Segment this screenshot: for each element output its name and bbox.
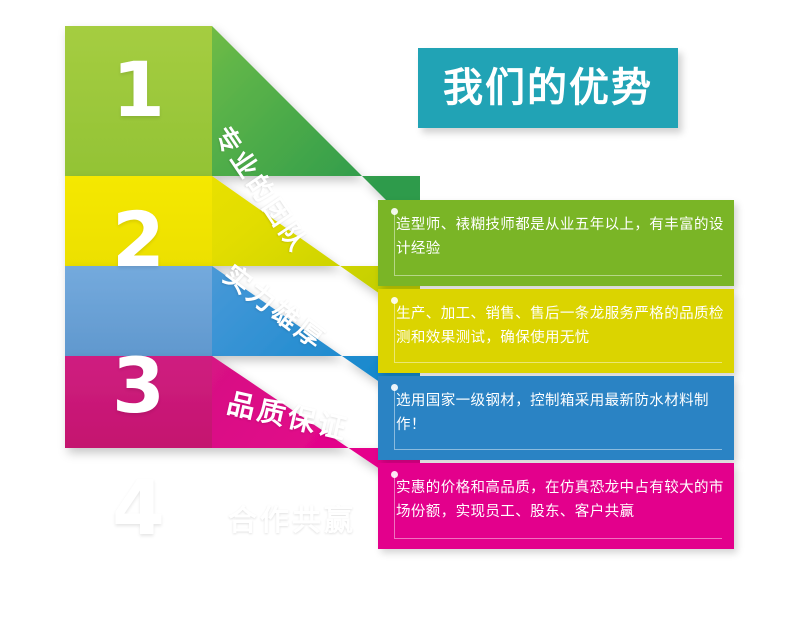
panel-2-text: 生产、加工、销售、售后一条龙服务严格的品质检测和效果测试，确保使用无忧	[396, 303, 728, 351]
description-panel-2[interactable]: 生产、加工、销售、售后一条龙服务严格的品质检测和效果测试，确保使用无忧	[378, 289, 734, 373]
description-panel-4[interactable]: 实惠的价格和高品质，在仿真恐龙中占有较大的市场份额，实现员工、股东、客户共赢	[378, 463, 734, 549]
description-panel-3[interactable]: 选用国家一级钢材，控制箱采用最新防水材料制作！	[378, 376, 734, 460]
advantage-blocks-graphic	[0, 0, 420, 622]
panel-1-text: 造型师、裱糊技师都是从业五年以上，有丰富的设计经验	[396, 214, 728, 262]
page-title: 我们的优势	[418, 48, 678, 128]
panel-3-text: 选用国家一级钢材，控制箱采用最新防水材料制作！	[396, 390, 728, 438]
panel-4-text: 实惠的价格和高品质，在仿真恐龙中占有较大的市场份额，实现员工、股东、客户共赢	[396, 477, 728, 525]
infographic-canvas: 1 2 3 4 专业的团队 实力雄厚 品质保证 合作共赢 我们的优势 造型师、裱…	[0, 0, 800, 622]
block-4-shape[interactable]	[65, 356, 420, 496]
description-panel-1[interactable]: 造型师、裱糊技师都是从业五年以上，有丰富的设计经验	[378, 200, 734, 286]
page-title-text: 我们的优势	[443, 68, 653, 108]
